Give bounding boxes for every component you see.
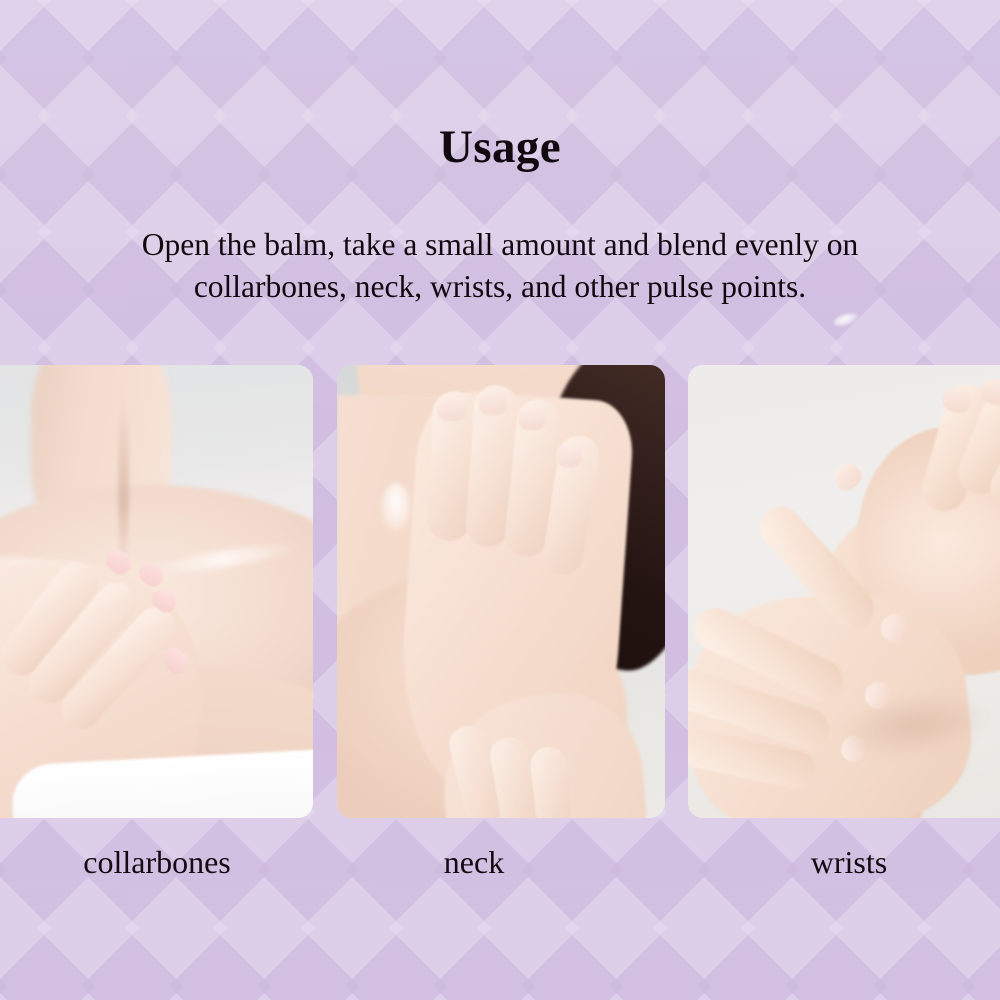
usage-infographic: Usage Open the balm, take a small amount… <box>0 0 1000 1000</box>
photo-collarbones <box>0 365 313 818</box>
caption-neck: neck <box>324 840 624 884</box>
sternum-shadow <box>118 395 129 570</box>
photo-wrists <box>688 365 1000 818</box>
usage-description-line-1: Open the balm, take a small amount and b… <box>60 224 940 266</box>
fingernail <box>437 395 467 421</box>
usage-description: Open the balm, take a small amount and b… <box>60 224 940 308</box>
page-title: Usage <box>0 119 1000 175</box>
photo-panel-neck <box>337 365 665 818</box>
fingernail <box>518 405 546 430</box>
caption-collarbones: collarbones <box>7 840 307 884</box>
fingernail <box>829 459 865 495</box>
usage-description-line-2: collarbones, neck, wrists, and other pul… <box>60 266 940 308</box>
caption-wrists: wrists <box>699 840 999 884</box>
balm-dab-highlight <box>381 483 411 531</box>
photo-panel-collarbones <box>0 365 313 818</box>
photo-neck <box>337 365 665 818</box>
photo-panel-wrists <box>688 365 1000 818</box>
fingernail <box>478 389 507 415</box>
fingernail <box>556 443 582 467</box>
